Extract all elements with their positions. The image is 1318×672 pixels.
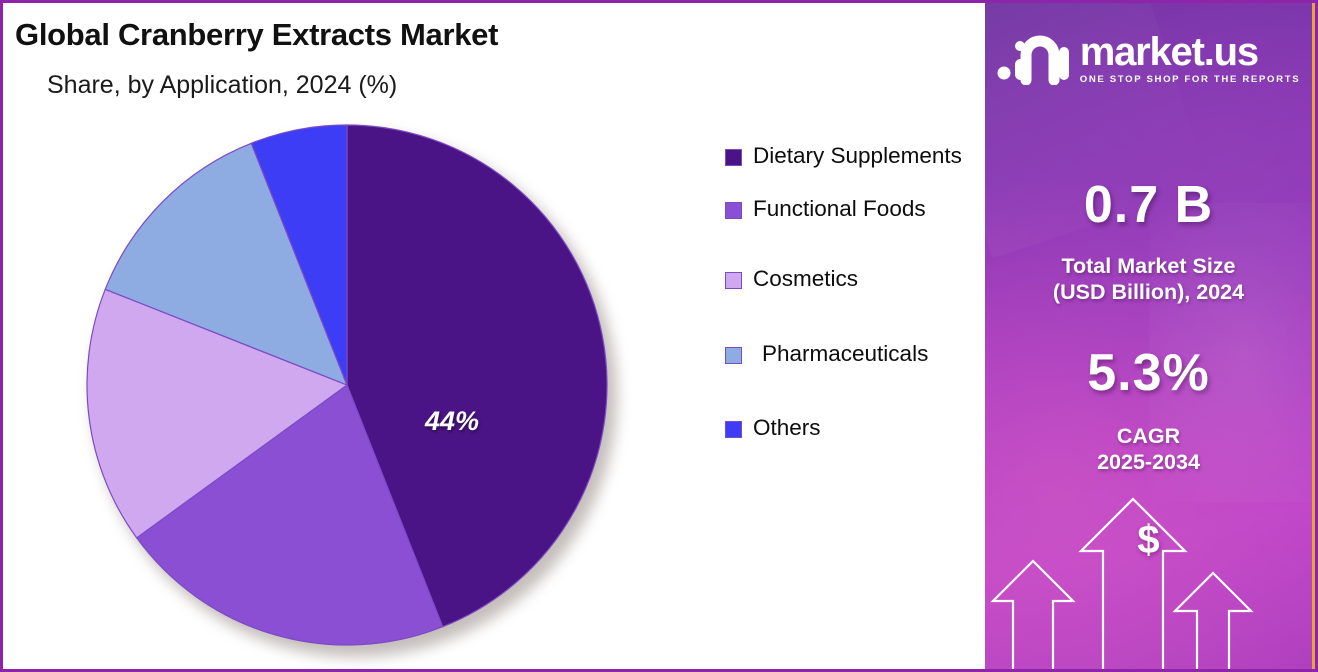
caption-line-2: 2025-2034 [1097, 450, 1200, 474]
caption-line-1: Total Market Size [1061, 254, 1235, 278]
legend-item-label: Pharmaceuticals [762, 341, 928, 368]
legend-swatch-icon [725, 202, 742, 219]
legend-item-label: Dietary Supplements [753, 143, 962, 170]
pie-chart: 44% [85, 123, 613, 653]
stats-side-panel: market.us ONE STOP SHOP FOR THE REPORTS … [985, 3, 1315, 669]
page-title: Global Cranberry Extracts Market [15, 17, 498, 53]
cagr-caption: CAGR 2025-2034 [985, 423, 1312, 475]
total-market-size-caption: Total Market Size (USD Billion), 2024 [985, 253, 1312, 305]
legend-swatch-icon [725, 272, 742, 289]
legend-item-label: Cosmetics [753, 266, 858, 293]
cagr-value: 5.3% [985, 343, 1312, 403]
brand-logo: market.us ONE STOP SHOP FOR THE REPORTS [985, 33, 1312, 85]
total-market-size-value: 0.7 B [985, 175, 1312, 235]
legend-item-pharmaceuticals[interactable]: Pharmaceuticals [725, 341, 983, 368]
pie-svg [85, 123, 609, 647]
legend-swatch-icon [725, 421, 742, 438]
legend-item-functional-foods[interactable]: Functional Foods [725, 196, 983, 223]
legend-item-others[interactable]: Others [725, 415, 983, 442]
brand-name: market.us [1080, 33, 1301, 71]
caption-line-2: (USD Billion), 2024 [1053, 280, 1244, 304]
caption-line-1: CAGR [1117, 424, 1180, 448]
brand-tagline: ONE STOP SHOP FOR THE REPORTS [1080, 74, 1301, 85]
chart-pane: Global Cranberry Extracts Market Share, … [3, 3, 991, 669]
legend-item-dietary-supplements[interactable]: Dietary Supplements [725, 143, 983, 170]
pie-slice-label-dietary-supplements: 44% [425, 406, 479, 437]
growth-arrows-icon [985, 489, 1315, 669]
legend-swatch-icon [725, 347, 742, 364]
market-us-logo-icon [997, 33, 1069, 85]
page-subtitle: Share, by Application, 2024 (%) [47, 71, 397, 100]
legend-item-cosmetics[interactable]: Cosmetics [725, 266, 983, 293]
legend-swatch-icon [725, 149, 742, 166]
legend-item-label: Others [753, 415, 821, 442]
legend-item-label: Functional Foods [753, 196, 926, 223]
legend: Dietary Supplements Functional Foods Cos… [725, 143, 983, 468]
infographic-frame: Global Cranberry Extracts Market Share, … [0, 0, 1318, 672]
